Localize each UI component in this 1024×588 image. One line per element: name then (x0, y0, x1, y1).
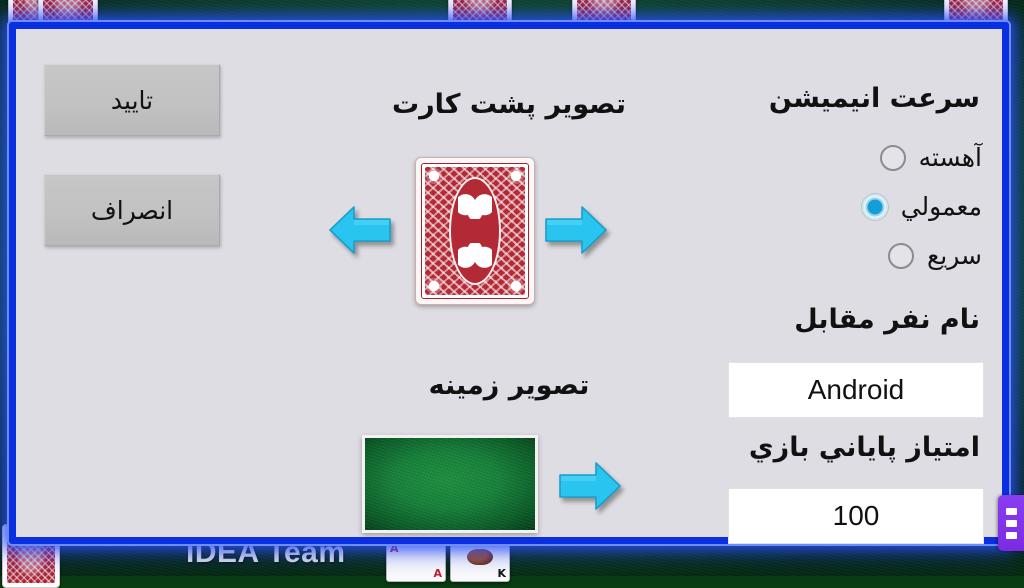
radio-animation-speed-slow[interactable]: آهسته (880, 143, 982, 172)
card-back-preview[interactable] (415, 157, 535, 305)
opponent-name-label: نام نفر مقابل (794, 304, 980, 335)
background-image-preview[interactable] (362, 435, 538, 533)
card-back-corner-ornament (508, 168, 524, 184)
cancel-button[interactable]: انصراف (44, 174, 220, 246)
card-back-corner-ornament (508, 278, 524, 294)
card-pip: K (497, 568, 506, 579)
card-back-fleur-top (458, 193, 492, 219)
background-image-next-arrow-icon[interactable] (558, 457, 622, 515)
card-back-next-arrow-icon[interactable] (544, 201, 608, 259)
handle-dash (1006, 532, 1017, 539)
radio-animation-speed-normal[interactable]: معمولي (862, 192, 982, 221)
card-back-corner-ornament (426, 278, 442, 294)
card-art (467, 549, 493, 565)
card-back-fleur-bottom (458, 243, 492, 269)
radio-label-normal: معمولي (901, 192, 982, 221)
radio-animation-speed-fast[interactable]: سريع (888, 241, 982, 270)
animation-speed-label: سرعت انيميشن (769, 83, 980, 114)
card-pip: A (390, 543, 399, 554)
card-back-corner-ornament (426, 168, 442, 184)
radio-indicator-normal[interactable] (862, 194, 888, 220)
radio-indicator-fast[interactable] (888, 243, 914, 269)
settings-right-column: سرعت انيميشن آهسته معمولي سريع نام نفر م… (714, 29, 986, 537)
handle-dash (1006, 520, 1017, 527)
drawer-handle-icon[interactable] (998, 495, 1024, 551)
handle-dash (1006, 508, 1017, 515)
final-score-input[interactable]: 100 (728, 488, 984, 544)
radio-indicator-slow[interactable] (880, 145, 906, 171)
radio-label-fast: سريع (927, 241, 982, 270)
cancel-button-label: انصراف (91, 196, 173, 225)
card-back-previous-arrow-icon[interactable] (328, 201, 392, 259)
radio-label-slow: آهسته (919, 143, 982, 172)
card-back-frame (421, 163, 529, 299)
final-score-label: امتياز پاياني بازي (749, 432, 980, 463)
opponent-name-input[interactable]: Android (728, 362, 984, 418)
settings-dialog: تایید انصراف تصوير پشت کارت (9, 22, 1009, 544)
card-pip: A (433, 568, 442, 579)
